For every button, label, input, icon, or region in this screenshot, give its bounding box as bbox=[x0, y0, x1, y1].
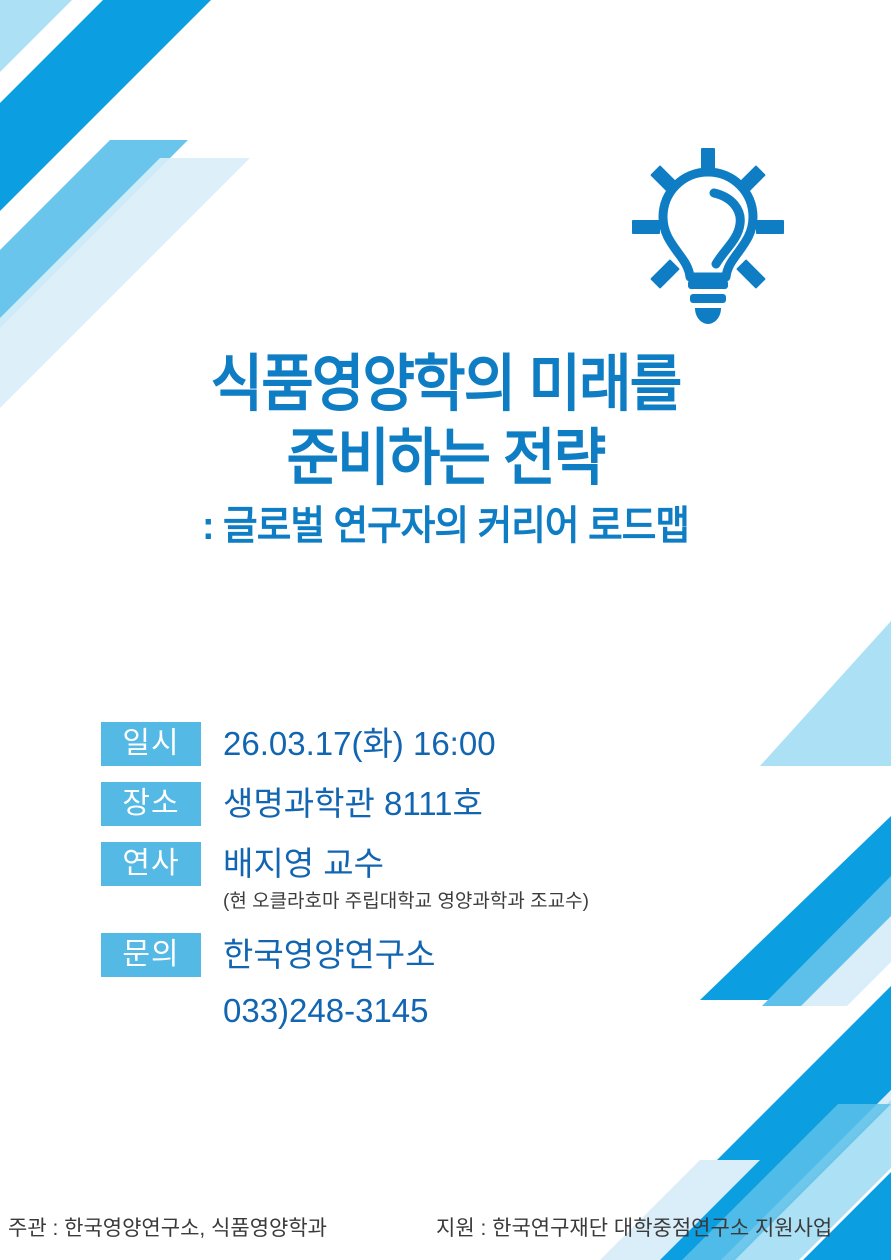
footer: 주관 : 한국영양연구소, 식품영양학과 지원 : 한국연구재단 대학중점연구소… bbox=[0, 1212, 891, 1246]
info-block: 일시 26.03.17(화) 16:00 장소 생명과학관 8111호 연사 배… bbox=[101, 722, 801, 1048]
footer-host-text: 주관 : 한국영양연구소, 식품영양학과 bbox=[8, 1212, 327, 1246]
info-value-date: 26.03.17(화) 16:00 bbox=[223, 723, 496, 765]
deco-band-right-pale bbox=[801, 916, 891, 1006]
info-label-contact: 문의 bbox=[101, 933, 201, 977]
bulb-ray-left bbox=[632, 220, 660, 234]
bulb-ray-bottomright bbox=[736, 259, 766, 289]
info-row-date: 일시 26.03.17(화) 16:00 bbox=[101, 722, 801, 766]
lightbulb-icon bbox=[632, 148, 784, 324]
bulb-base-tip bbox=[695, 308, 721, 324]
bulb-base-bar-1 bbox=[688, 280, 728, 289]
info-sub-speaker-affiliation: (현 오클라호마 주립대학교 영양과학과 조교수) bbox=[223, 887, 589, 917]
poster-canvas: 식품영양학의 미래를 준비하는 전략 : 글로벌 연구자의 커리어 로드맵 일시… bbox=[0, 0, 891, 1260]
info-values-venue: 생명과학관 8111호 bbox=[223, 782, 483, 825]
deco-band-topleft-mid bbox=[0, 140, 188, 328]
info-row-venue: 장소 생명과학관 8111호 bbox=[101, 782, 801, 826]
info-values-date: 26.03.17(화) 16:00 bbox=[223, 722, 496, 765]
info-values-speaker: 배지영 교수 (현 오클라호마 주립대학교 영양과학과 조교수) bbox=[223, 842, 589, 917]
deco-band-topleft-pale bbox=[0, 32, 127, 159]
info-value-venue: 생명과학관 8111호 bbox=[223, 783, 483, 825]
bulb-base-bar-2 bbox=[690, 294, 726, 303]
deco-band-topleft-strong bbox=[0, 0, 211, 211]
info-value-speaker: 배지영 교수 bbox=[223, 843, 589, 885]
title-block: 식품영양학의 미래를 준비하는 전략 : 글로벌 연구자의 커리어 로드맵 bbox=[0, 348, 891, 552]
deco-band-topleft-lightblue bbox=[0, 0, 72, 72]
bulb-ray-right bbox=[756, 220, 784, 234]
info-value-contact-phone: 033)248-3145 bbox=[223, 990, 436, 1032]
info-value-contact-org: 한국영양연구소 bbox=[223, 934, 436, 976]
title-line-2: 준비하는 전략 bbox=[36, 422, 856, 496]
title-line-1: 식품영양학의 미래를 bbox=[36, 348, 856, 422]
bulb-ray-bottomleft bbox=[650, 259, 680, 289]
poster-subtitle: : 글로벌 연구자의 커리어 로드맵 bbox=[27, 500, 865, 552]
info-label-venue: 장소 bbox=[101, 782, 201, 826]
info-values-contact: 한국영양연구소 033)248-3145 bbox=[223, 933, 436, 1032]
info-row-speaker: 연사 배지영 교수 (현 오클라호마 주립대학교 영양과학과 조교수) bbox=[101, 842, 801, 917]
info-label-speaker: 연사 bbox=[101, 842, 201, 886]
info-row-contact: 문의 한국영양연구소 033)248-3145 bbox=[101, 933, 801, 1032]
info-label-date: 일시 bbox=[101, 722, 201, 766]
footer-support-text: 지원 : 한국연구재단 대학중점연구소 지원사업 bbox=[436, 1212, 832, 1246]
